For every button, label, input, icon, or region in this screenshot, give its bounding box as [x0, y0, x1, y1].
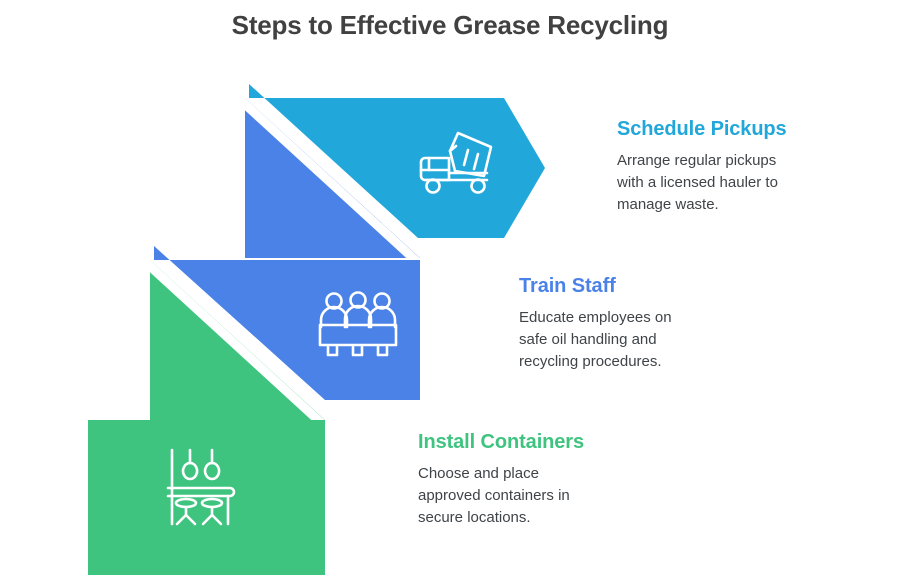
step-text-2: Train Staff Educate employees on safe oi… [519, 275, 734, 373]
step-band-1[interactable] [237, 84, 545, 266]
step-body-3: Choose and place approved containers in … [418, 463, 633, 529]
step-band-3[interactable] [88, 420, 325, 575]
step-text-3: Install Containers Choose and place appr… [418, 431, 633, 529]
infographic-canvas: Steps to Effective Grease Recycling [0, 0, 900, 575]
step-heading-3: Install Containers [418, 431, 633, 454]
step-text-1: Schedule Pickups Arrange regular pickups… [617, 118, 832, 216]
step-band-3-rect [88, 420, 325, 575]
step-body-2: Educate employees on safe oil handling a… [519, 307, 734, 373]
step-band-2[interactable] [142, 246, 420, 428]
step-heading-2: Train Staff [519, 275, 734, 298]
step-body-1: Arrange regular pickups with a licensed … [617, 150, 832, 216]
step-heading-1: Schedule Pickups [617, 118, 832, 141]
